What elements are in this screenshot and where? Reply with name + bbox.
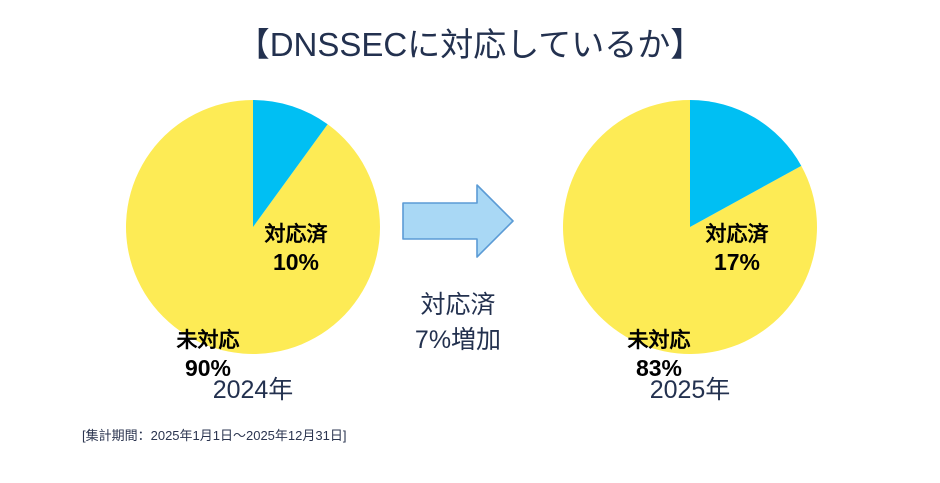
arrow-container <box>402 184 514 258</box>
pie-chart-2024: 対応済 10% 未対応 90% <box>122 96 384 358</box>
pie-svg-2024 <box>122 96 384 358</box>
year-caption-2025: 2025年 <box>559 370 821 406</box>
footnote-period: [集計期間：2025年1月1日～2025年12月31日] <box>82 425 346 444</box>
center-note: 対応済 7%増加 <box>378 288 538 357</box>
center-note-line1: 対応済 <box>378 288 538 323</box>
page-title: 【DNSSECに対応しているか】 <box>0 18 940 66</box>
year-caption-2024: 2024年 <box>122 370 384 406</box>
right-arrow-icon <box>402 184 514 258</box>
pie-chart-2025: 対応済 17% 未対応 83% <box>559 96 821 358</box>
center-note-line2: 7%増加 <box>378 323 538 358</box>
pie-svg-2025 <box>559 96 821 358</box>
